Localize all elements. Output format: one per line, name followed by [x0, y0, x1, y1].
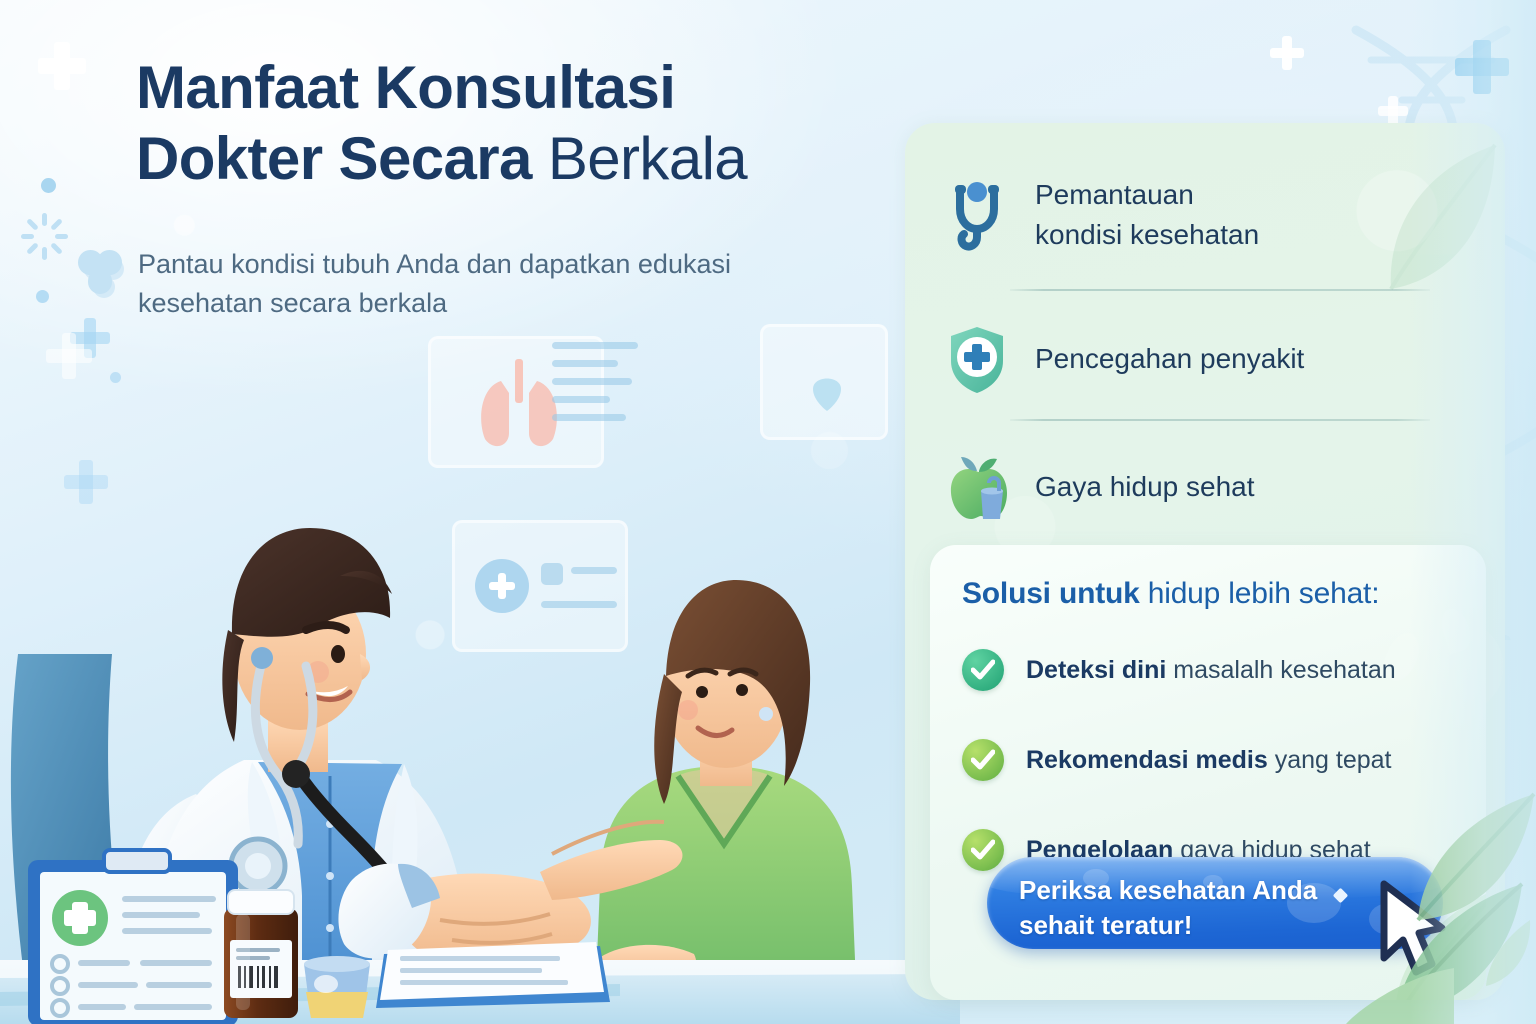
benefit-label: Gaya hidup sehat — [1035, 467, 1255, 507]
stethoscope-icon — [947, 179, 1007, 251]
headline-line-1: Manfaat Konsultasi — [136, 54, 675, 121]
benefit-label: Pencegahan penyakit — [1035, 339, 1304, 379]
solutions-title: Solusi untuk hidup lebih sehat: — [962, 577, 1462, 611]
shield-cross-icon — [947, 323, 1007, 395]
divider — [1010, 419, 1430, 421]
decor-dot — [36, 290, 49, 303]
sparkle-burst-icon — [16, 208, 72, 264]
benefit-label: Pemantauan kondisi kesehatan — [1035, 175, 1259, 255]
divider — [1010, 289, 1430, 291]
solution-label: Deteksi dini masalalh kesehatan — [1026, 656, 1396, 685]
check-circle-icon — [962, 649, 1004, 691]
plus-cross-icon — [38, 42, 86, 90]
page-title: Manfaat Konsultasi Dokter Secara Berkala — [136, 52, 896, 195]
plus-cross-icon — [1270, 36, 1304, 70]
benefit-item-lifestyle[interactable]: Gaya hidup sehat — [947, 451, 1467, 523]
poster-canvas: Manfaat Konsultasi Dokter Secara Berkala… — [0, 0, 1536, 1024]
clover-icon — [84, 258, 124, 298]
check-circle-icon — [962, 739, 1004, 781]
benefit-item-monitoring[interactable]: Pemantauan kondisi kesehatan — [947, 175, 1467, 255]
page-subtitle: Pantau kondisi tubuh Anda dan dapatkan e… — [138, 245, 838, 324]
plus-cross-icon — [1378, 96, 1408, 126]
decor-dot — [41, 178, 56, 193]
benefit-item-prevention[interactable]: Pencegahan penyakit — [947, 323, 1467, 395]
solution-item-detection[interactable]: Deteksi dini masalalh kesehatan — [962, 649, 1472, 691]
right-edge-wash — [1410, 0, 1536, 1024]
headline-line-2: Dokter Secara Berkala — [136, 123, 896, 194]
doctor-patient-consultation-illustration — [0, 324, 960, 1024]
apple-cup-icon — [947, 451, 1007, 523]
